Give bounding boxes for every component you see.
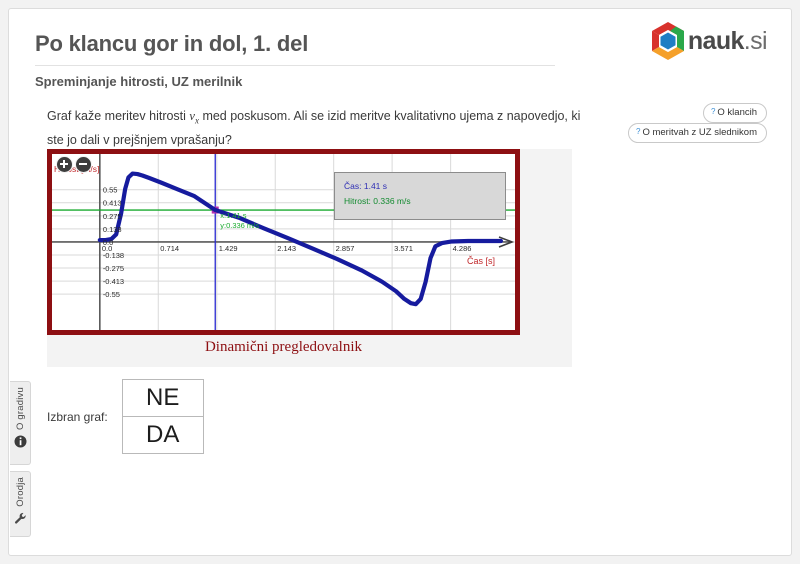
tooltip-time-row: Čas: 1.41 s: [344, 179, 505, 193]
chart-zoom-controls[interactable]: [56, 156, 92, 173]
svg-text:0.413: 0.413: [103, 199, 122, 208]
info-icon: [14, 435, 27, 448]
svg-text:4.286: 4.286: [453, 244, 472, 253]
title-divider: [35, 65, 555, 66]
help-button-o-klancih[interactable]: ?O klancih: [703, 103, 767, 123]
page-root: Po klancu gor in dol, 1. del Spreminjanj…: [0, 0, 800, 564]
site-logo[interactable]: nauk.si: [646, 19, 767, 63]
logo-name: nauk: [688, 27, 744, 55]
answer-option-da[interactable]: DA: [123, 417, 203, 453]
zoom-out-icon[interactable]: [75, 156, 92, 173]
help-button-o-meritvah[interactable]: ?O meritvah z UZ slednikom: [628, 123, 767, 143]
svg-text:2.857: 2.857: [336, 244, 355, 253]
tooltip-velocity-label: Hitrost:: [344, 196, 371, 206]
help-button-label: O klancih: [717, 107, 757, 118]
help-button-label: O meritvah z UZ slednikom: [642, 127, 757, 138]
svg-text:2.143: 2.143: [277, 244, 296, 253]
svg-text:0.138: 0.138: [103, 225, 122, 234]
svg-text:Čas [s]: Čas [s]: [467, 256, 495, 266]
wrench-icon: [14, 512, 27, 525]
svg-text:3.571: 3.571: [394, 244, 413, 253]
zoom-in-icon[interactable]: [56, 156, 73, 173]
chart-frame[interactable]: 0.00.7141.4292.1432.8573.5714.2860.550.4…: [47, 149, 520, 335]
svg-text:-0.138: -0.138: [103, 251, 124, 260]
answer-label: Izbran graf:: [47, 410, 108, 424]
velocity-symbol: vx: [189, 109, 199, 123]
sidebar-tab-orodja[interactable]: Orodja: [10, 471, 31, 537]
svg-text:-0.55: -0.55: [103, 290, 120, 299]
answer-selector: Izbran graf: NE DA: [47, 379, 204, 454]
applet-caption: Dinamični pregledovalnik: [47, 339, 520, 356]
svg-text:-0.275: -0.275: [103, 264, 124, 273]
svg-text:y:0.336 m/s: y:0.336 m/s: [220, 221, 259, 230]
svg-text:0.714: 0.714: [160, 244, 179, 253]
sidebar-tab-label: Orodja: [15, 477, 26, 507]
question-mark-icon: ?: [711, 107, 715, 116]
chart-tooltip: Čas: 1.41 s Hitrost: 0.336 m/s: [334, 172, 506, 220]
question-part-3: dali v prejšnjem vprašanju?: [80, 133, 231, 147]
svg-text:0.55: 0.55: [103, 186, 118, 195]
logo-suffix: .si: [744, 27, 767, 55]
svg-text:0.275: 0.275: [103, 212, 122, 221]
tooltip-velocity-value: 0.336 m/s: [373, 196, 410, 206]
tooltip-time-value: 1.41 s: [364, 181, 387, 191]
question-text: Graf kaže meritev hitrosti vx med poskus…: [47, 107, 592, 150]
answer-option-ne[interactable]: NE: [123, 380, 203, 417]
question-mark-icon: ?: [636, 127, 640, 136]
content-card: Po klancu gor in dol, 1. del Spreminjanj…: [8, 8, 792, 556]
page-title: Po klancu gor in dol, 1. del: [35, 31, 308, 57]
page-subtitle: Spreminjanje hitrosti, UZ merilnik: [35, 74, 242, 89]
question-part-1: Graf kaže meritev hitrosti: [47, 109, 189, 123]
tooltip-time-label: Čas:: [344, 181, 361, 191]
svg-text:-0.413: -0.413: [103, 277, 124, 286]
answer-options-box[interactable]: NE DA: [122, 379, 204, 454]
nauk-hexagon-logo-icon: [646, 19, 690, 63]
tooltip-velocity-row: Hitrost: 0.336 m/s: [344, 193, 505, 209]
dynamic-viewer-applet: 0.00.7141.4292.1432.8573.5714.2860.550.4…: [47, 149, 572, 367]
svg-text:x:1.41 s: x:1.41 s: [220, 211, 247, 220]
svg-text:1.429: 1.429: [219, 244, 238, 253]
sidebar-tab-o-gradivu[interactable]: O gradivu: [10, 381, 31, 465]
sidebar-tab-label: O gradivu: [15, 387, 26, 430]
svg-text:0.0: 0.0: [103, 238, 113, 247]
logo-wordmark: nauk.si: [688, 27, 767, 56]
